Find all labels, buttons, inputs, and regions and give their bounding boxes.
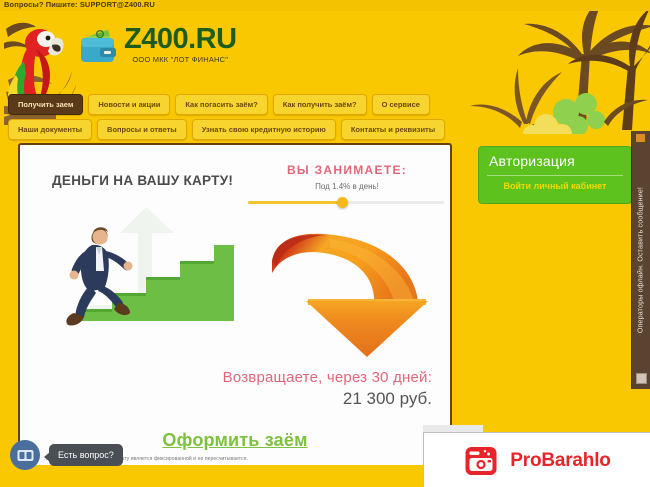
- return-amount: 21 300 руб.: [223, 389, 432, 409]
- nav-item-nashi-dokumenty[interactable]: Наши документы: [8, 119, 92, 140]
- camera-icon: [464, 444, 498, 478]
- operator-tab-text: Операторы офлайн. Оставить сообщение!: [638, 187, 645, 333]
- auth-divider: [487, 175, 623, 176]
- auth-title: Авторизация: [489, 153, 575, 169]
- nav-row-2: Наши документы Вопросы и ответы Узнать с…: [0, 119, 650, 140]
- left-background-strip: [0, 135, 18, 487]
- operator-chat-tab[interactable]: Операторы офлайн. Оставить сообщение!: [631, 131, 650, 389]
- occupy-title: ВЫ ЗАНИМАЕТЕ:: [252, 163, 442, 177]
- site-header: 400 Z400.RU ООО МКК "ЛОТ ФИНАНС": [0, 11, 650, 93]
- authorization-box: Авторизация Войти личный кабинет: [478, 146, 632, 204]
- nav-item-kak-poluchit-zaem[interactable]: Как получить заём?: [273, 94, 367, 115]
- chat-widget[interactable]: Есть вопрос?: [10, 440, 123, 470]
- return-label: Возвращаете, через 30 дней:: [223, 369, 432, 386]
- wallet-icon: 400: [78, 26, 120, 68]
- return-amount-section: Возвращаете, через 30 дней: 21 300 руб.: [223, 369, 432, 409]
- top-contact-bar: Вопросы? Пишите: SUPPORT@Z400.RU: [0, 0, 650, 11]
- logo-name: Z400.RU: [124, 24, 237, 54]
- nav-item-voprosy-i-otvety[interactable]: Вопросы и ответы: [97, 119, 187, 140]
- nav-item-o-servise[interactable]: О сервисе: [372, 94, 430, 115]
- logo-subtitle: ООО МКК "ЛОТ ФИНАНС": [124, 55, 237, 64]
- panel-headline: ДЕНЬГИ НА ВАШУ КАРТУ!: [52, 173, 233, 188]
- login-link[interactable]: Войти личный кабинет: [479, 181, 631, 191]
- nav-row-1: Получить заем Новости и акции Как погаси…: [0, 94, 650, 115]
- operator-tab-top-marker: [636, 134, 645, 142]
- apply-loan-link[interactable]: Оформить заём: [162, 430, 307, 450]
- support-email-text: Вопросы? Пишите: SUPPORT@Z400.RU: [4, 0, 155, 9]
- loan-amount-section: ВЫ ЗАНИМАЕТЕ: Под 1.4% в день!: [252, 163, 442, 191]
- curved-down-arrow-icon: [268, 217, 452, 359]
- nav-item-kreditnaya-istoriya[interactable]: Узнать свою кредитную историю: [192, 119, 336, 140]
- businessman-climbing-stairs-illustration: [34, 193, 234, 333]
- main-navigation: Получить заем Новости и акции Как погаси…: [0, 94, 650, 144]
- slider-handle[interactable]: [337, 197, 348, 208]
- chat-avatar-glyph: [17, 449, 34, 462]
- loan-calculator-panel: ДЕНЬГИ НА ВАШУ КАРТУ!: [18, 143, 452, 469]
- nav-item-novosti-i-akcii[interactable]: Новости и акции: [88, 94, 170, 115]
- nav-item-kontakty-i-rekvizity[interactable]: Контакты и реквизиты: [341, 119, 445, 140]
- page-root: Вопросы? Пишите: SUPPORT@Z400.RU: [0, 0, 650, 487]
- operator-tab-icon[interactable]: [636, 373, 647, 384]
- nav-item-kak-pogasit-zaem[interactable]: Как погасить заём?: [175, 94, 267, 115]
- chat-avatar-icon[interactable]: [10, 440, 40, 470]
- nav-item-poluchit-zaem[interactable]: Получить заем: [8, 94, 83, 115]
- chat-bubble[interactable]: Есть вопрос?: [49, 444, 123, 466]
- loan-amount-slider[interactable]: [248, 197, 444, 207]
- watermark-label: ProBarahlo: [510, 450, 610, 472]
- occupy-rate: Под 1.4% в день!: [252, 182, 442, 191]
- site-logo[interactable]: 400 Z400.RU ООО МКК "ЛОТ ФИНАНС": [78, 24, 237, 68]
- svg-text:400: 400: [97, 32, 104, 37]
- slider-fill: [248, 201, 344, 204]
- probarahlo-watermark: ProBarahlo: [423, 432, 650, 487]
